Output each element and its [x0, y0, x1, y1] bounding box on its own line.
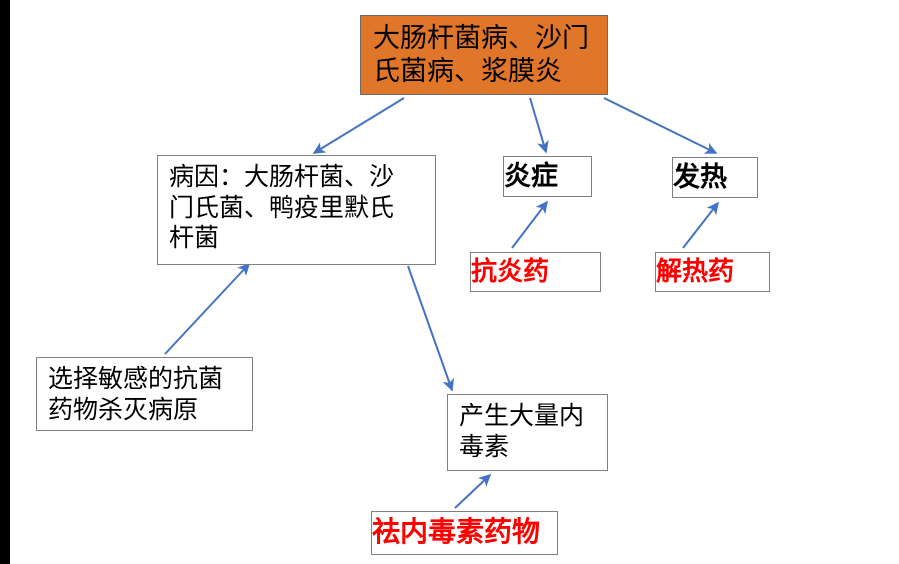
node-antipyretic-drug: 解热药	[655, 252, 770, 292]
node-fever: 发热	[672, 157, 758, 198]
node-inflammation: 炎症	[503, 156, 592, 197]
node-select-antibacterial: 选择敏感的抗菌 药物杀灭病原	[36, 357, 253, 431]
node-cause: 病因：大肠杆菌、沙 门氏菌、鸭疫里默氏 杆菌	[157, 155, 436, 265]
node-fever-label: 发热	[673, 161, 757, 194]
diagram-canvas: 大肠杆菌病、沙门 氏菌病、浆膜炎 病因：大肠杆菌、沙 门氏菌、鸭疫里默氏 杆菌炎…	[0, 0, 899, 564]
node-inflammation-label: 炎症	[504, 160, 591, 193]
arrow-antibacterial-to-cause	[165, 264, 249, 354]
arrow-root-to-cause	[314, 98, 404, 153]
node-endotoxin-removal-drug-label: 祛内毒素药物	[372, 516, 557, 550]
node-endotoxin-removal-drug: 祛内毒素药物	[371, 511, 558, 555]
arrow-cause-to-endotoxin	[408, 266, 452, 390]
left-edge-bar	[0, 0, 10, 564]
node-endotoxin: 产生大量内 毒素	[447, 394, 608, 471]
arrow-antiinflam-to-inflammation	[512, 202, 547, 248]
node-select-antibacterial-label: 选择敏感的抗菌 药物杀灭病原	[48, 362, 244, 426]
arrow-antipyretic-to-fever	[683, 203, 718, 248]
node-root-disease-label: 大肠杆菌病、沙门 氏菌病、浆膜炎	[373, 22, 597, 88]
node-root-disease: 大肠杆菌病、沙门 氏菌病、浆膜炎	[360, 15, 608, 95]
node-cause-label: 病因：大肠杆菌、沙 门氏菌、鸭疫里默氏 杆菌	[169, 160, 427, 255]
node-anti-inflammatory-drug-label: 抗炎药	[471, 256, 600, 288]
node-anti-inflammatory-drug: 抗炎药	[470, 252, 601, 292]
arrow-removal-to-endotoxin	[455, 475, 490, 508]
node-endotoxin-label: 产生大量内 毒素	[459, 399, 599, 463]
arrow-root-to-fever	[604, 98, 716, 153]
node-antipyretic-drug-label: 解热药	[656, 256, 769, 288]
arrow-root-to-inflammation	[530, 98, 546, 152]
